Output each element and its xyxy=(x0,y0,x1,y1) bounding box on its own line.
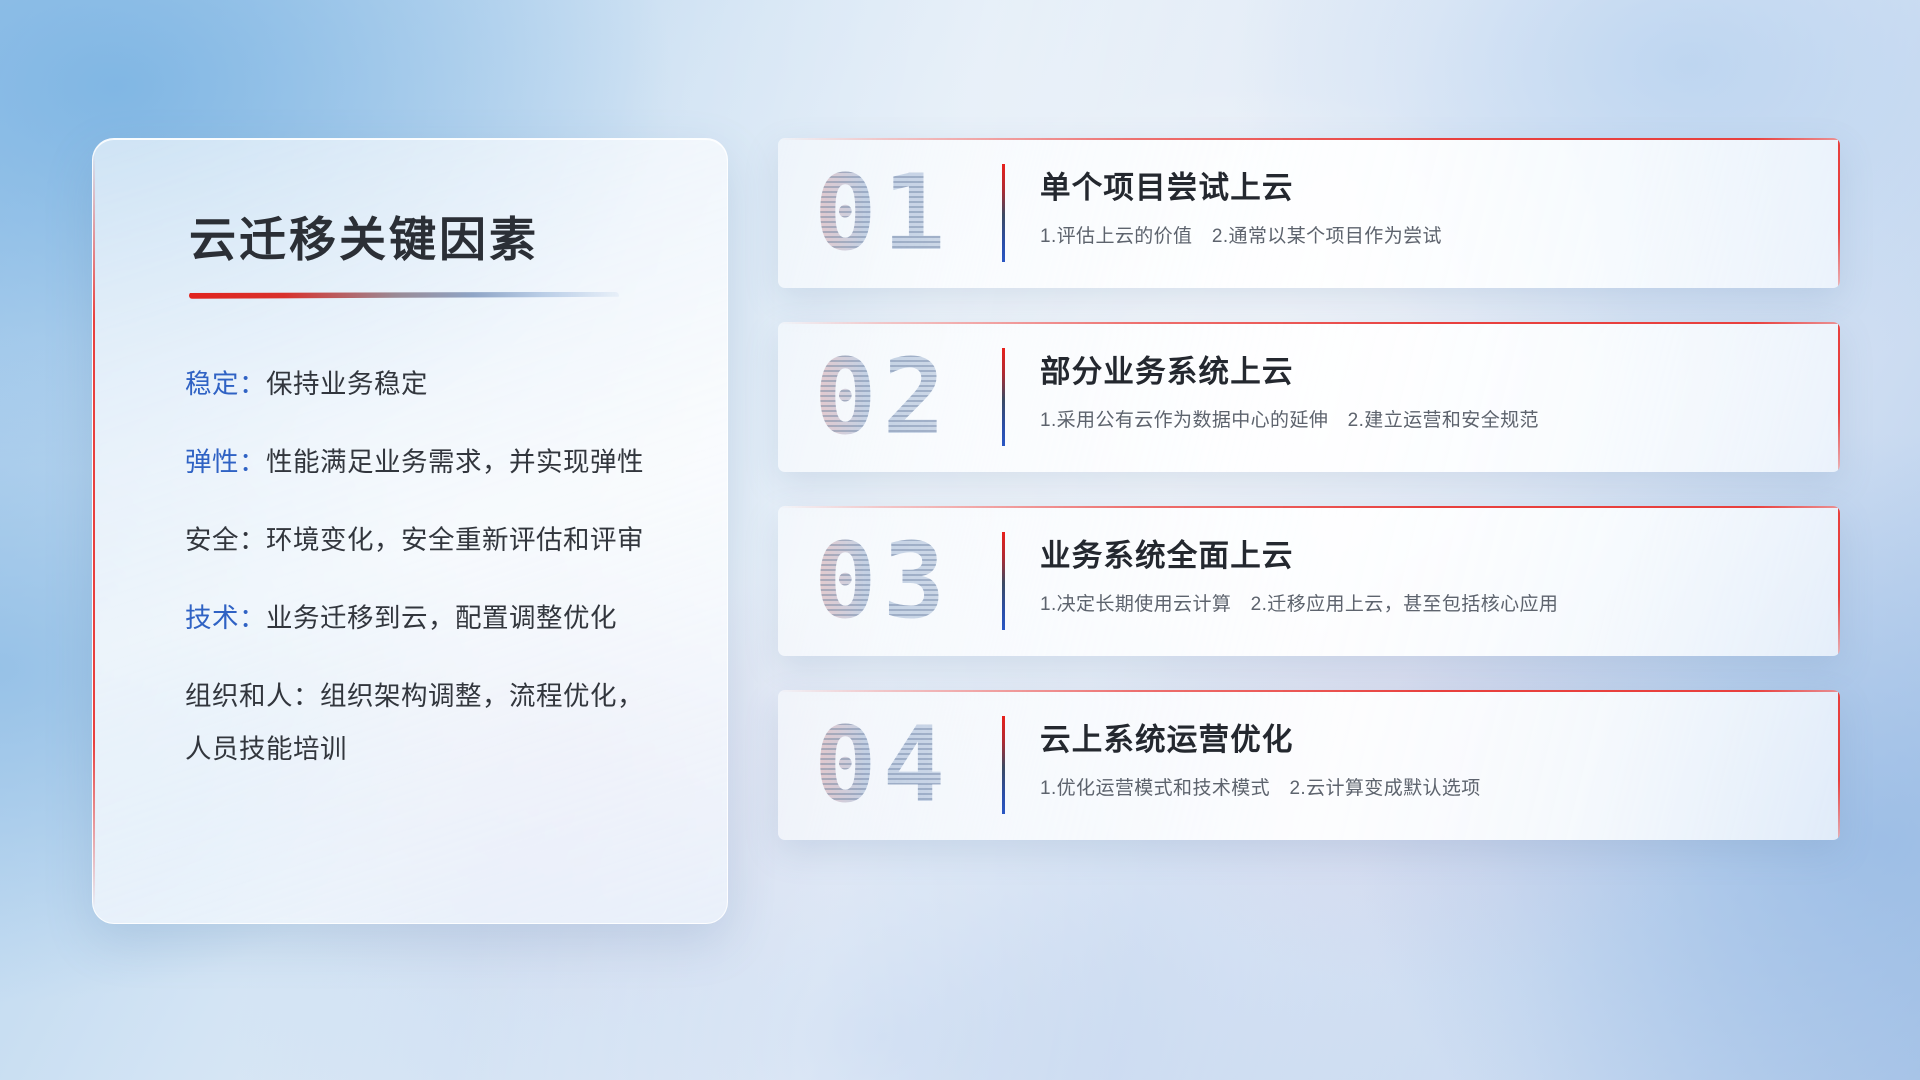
step-card-01[interactable]: 01 单个项目尝试上云 1.评估上云的价值 2.通常以某个项目作为尝试 xyxy=(778,138,1840,288)
factor-text: 保持业务稳定 xyxy=(266,369,428,399)
factor-text: 性能满足业务需求，并实现弹性 xyxy=(266,447,644,477)
factor-text: 组织架构调整，流程优化， xyxy=(320,681,644,711)
factor-label: 弹性： xyxy=(185,447,266,477)
step-number: 02 xyxy=(814,345,951,449)
step-divider xyxy=(1002,532,1005,630)
step-list: 01 单个项目尝试上云 1.评估上云的价值 2.通常以某个项目作为尝试 02 部… xyxy=(778,138,1840,874)
step-description: 1.决定长期使用云计算 2.迁移应用上云，甚至包括核心应用 xyxy=(1040,593,1800,618)
list-item: 技术：业务迁移到云，配置调整优化 xyxy=(185,601,675,636)
list-item: 稳定：保持业务稳定 xyxy=(185,367,675,402)
step-title: 云上系统运营优化 xyxy=(1040,722,1800,759)
key-factors-card: 云迁移关键因素 稳定：保持业务稳定 弹性：性能满足业务需求，并实现弹性 安全：环… xyxy=(92,138,728,924)
step-title: 单个项目尝试上云 xyxy=(1040,170,1800,207)
list-item: 安全：环境变化，安全重新评估和评审 xyxy=(185,523,675,558)
step-divider xyxy=(1002,164,1005,262)
step-divider xyxy=(1002,348,1005,446)
step-body: 业务系统全面上云 1.决定长期使用云计算 2.迁移应用上云，甚至包括核心应用 xyxy=(1040,538,1800,617)
factor-text: 业务迁移到云，配置调整优化 xyxy=(266,603,617,633)
step-divider xyxy=(1002,716,1005,814)
step-description: 1.采用公有云作为数据中心的延伸 2.建立运营和安全规范 xyxy=(1040,409,1800,434)
title-underline-rule xyxy=(189,292,619,299)
factor-label: 组织和人： xyxy=(185,681,320,711)
factor-label: 安全： xyxy=(185,525,266,555)
step-body: 单个项目尝试上云 1.评估上云的价值 2.通常以某个项目作为尝试 xyxy=(1040,170,1800,249)
slide-stage: 云迁移关键因素 稳定：保持业务稳定 弹性：性能满足业务需求，并实现弹性 安全：环… xyxy=(0,0,1920,1080)
factor-text: 环境变化，安全重新评估和评审 xyxy=(266,525,644,555)
factor-text: 人员技能培训 xyxy=(185,734,347,764)
step-description: 1.优化运营模式和技术模式 2.云计算变成默认选项 xyxy=(1040,777,1800,802)
step-card-04[interactable]: 04 云上系统运营优化 1.优化运营模式和技术模式 2.云计算变成默认选项 xyxy=(778,690,1840,840)
step-description: 1.评估上云的价值 2.通常以某个项目作为尝试 xyxy=(1040,225,1800,250)
step-card-03[interactable]: 03 业务系统全面上云 1.决定长期使用云计算 2.迁移应用上云，甚至包括核心应… xyxy=(778,506,1840,656)
factor-label: 稳定： xyxy=(185,369,266,399)
list-item: 弹性：性能满足业务需求，并实现弹性 xyxy=(185,445,675,480)
step-number: 01 xyxy=(814,161,951,265)
page-title: 云迁移关键因素 xyxy=(189,211,675,270)
step-number: 03 xyxy=(814,529,951,633)
list-item: 组织和人：组织架构调整，流程优化， xyxy=(185,679,675,714)
step-body: 云上系统运营优化 1.优化运营模式和技术模式 2.云计算变成默认选项 xyxy=(1040,722,1800,801)
step-title: 部分业务系统上云 xyxy=(1040,354,1800,391)
factor-list: 稳定：保持业务稳定 弹性：性能满足业务需求，并实现弹性 安全：环境变化，安全重新… xyxy=(185,367,675,767)
list-item-continuation: 人员技能培训 xyxy=(185,732,675,767)
step-card-02[interactable]: 02 部分业务系统上云 1.采用公有云作为数据中心的延伸 2.建立运营和安全规范 xyxy=(778,322,1840,472)
step-number: 04 xyxy=(814,713,951,817)
step-title: 业务系统全面上云 xyxy=(1040,538,1800,575)
step-body: 部分业务系统上云 1.采用公有云作为数据中心的延伸 2.建立运营和安全规范 xyxy=(1040,354,1800,433)
key-factors-card-inner: 云迁移关键因素 稳定：保持业务稳定 弹性：性能满足业务需求，并实现弹性 安全：环… xyxy=(93,139,727,923)
factor-label: 技术： xyxy=(185,603,266,633)
